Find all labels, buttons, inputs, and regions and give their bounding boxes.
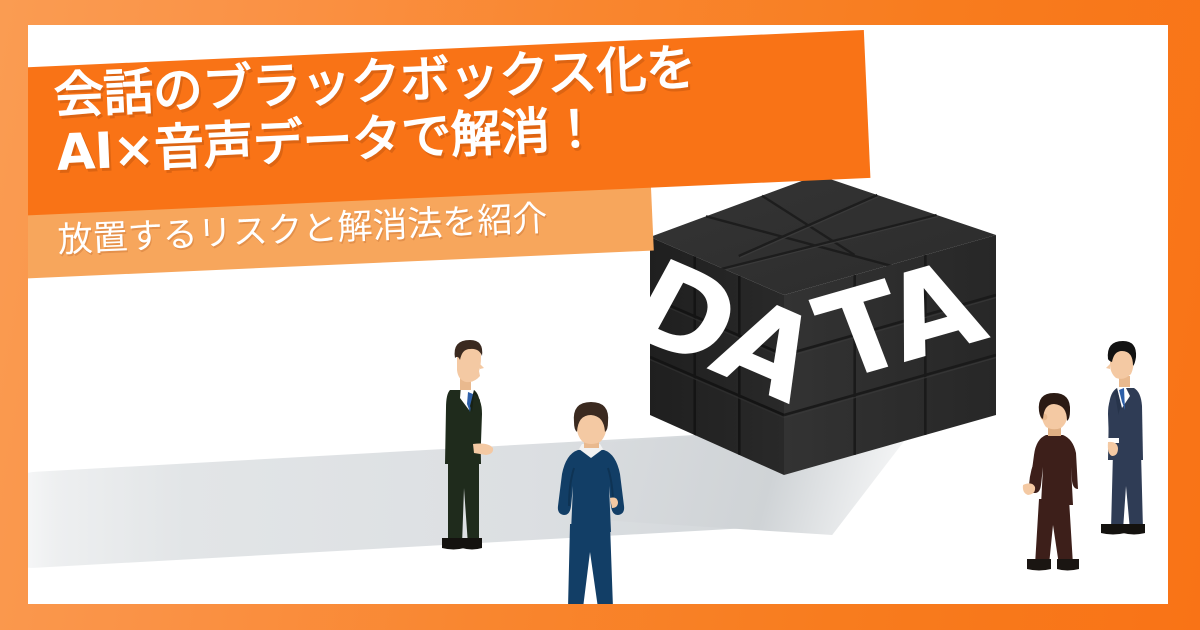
- person-green-suit: [424, 338, 504, 568]
- person-slate-suit: [1093, 340, 1163, 550]
- person-navy-suit: [538, 402, 648, 604]
- person-brown-suit: [1013, 393, 1093, 583]
- thumbnail-canvas: DA TA: [0, 0, 1200, 630]
- illustration-stage: DA TA: [28, 25, 1168, 604]
